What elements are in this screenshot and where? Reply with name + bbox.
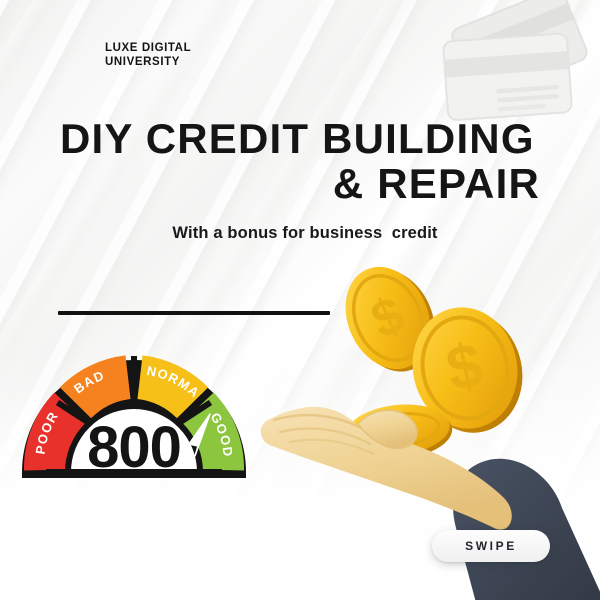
credit-score-gauge: POOR BAD NORMAL GOOD 800 — [14, 352, 254, 484]
swipe-button-label: SWIPE — [465, 539, 517, 553]
poster-canvas: LUXE DIGITAL UNIVERSITY DIY CREDIT BUILD… — [0, 0, 600, 600]
brand-logo-line2: UNIVERSITY — [105, 56, 191, 70]
gauge-score-value: 800 — [87, 415, 181, 480]
page-title-line1: DIY CREDIT BUILDING — [60, 116, 550, 161]
brand-logo-line1: LUXE DIGITAL — [105, 42, 191, 56]
swipe-button[interactable]: SWIPE — [432, 530, 550, 562]
page-title: DIY CREDIT BUILDING & REPAIR — [60, 116, 550, 207]
brand-logo: LUXE DIGITAL UNIVERSITY — [105, 42, 191, 69]
page-title-line2: & REPAIR — [60, 161, 550, 206]
